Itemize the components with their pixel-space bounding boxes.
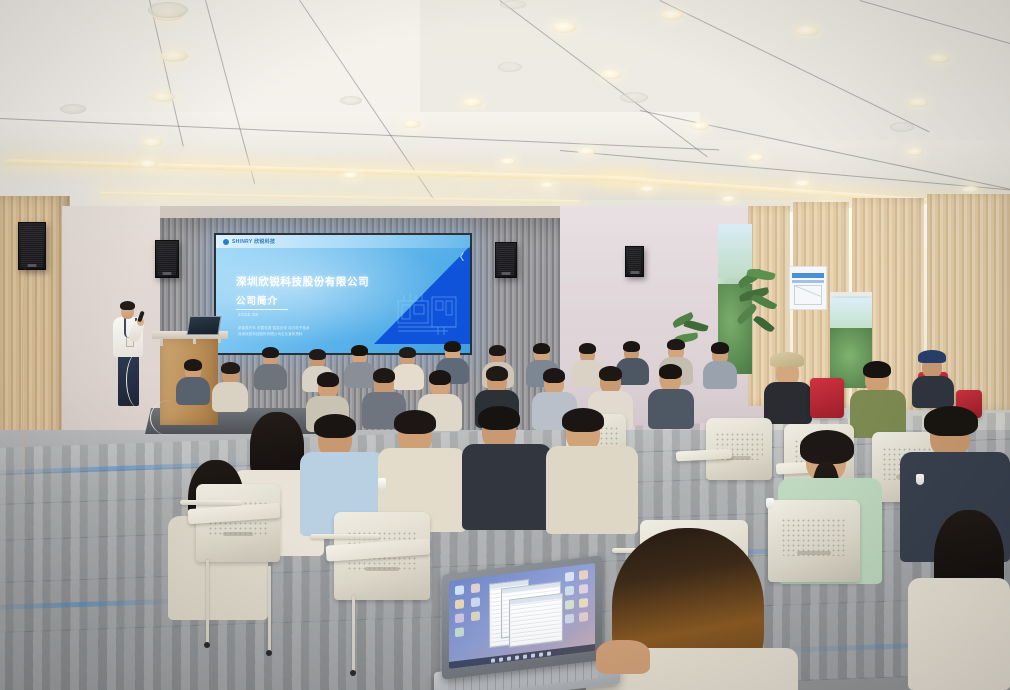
projection-screen: SHINRY 欣锐科技 〈 深圳欣锐科技股份有限公司 公司简介 2024.08 … — [214, 233, 472, 355]
wall-speaker-far-right — [625, 246, 644, 277]
ceiling-downlight — [151, 92, 175, 102]
slide-note-line-1: 新能源汽车 车载电源 智能充电 动力电子技术 — [238, 325, 310, 330]
slide-logo-bar: SHINRY 欣锐科技 — [216, 235, 470, 248]
wall-speaker-right — [495, 242, 517, 278]
paper-cup — [378, 478, 386, 489]
ceiling-downlight — [660, 10, 684, 20]
slide-title: 深圳欣锐科技股份有限公司 — [236, 274, 369, 289]
slide-divider — [236, 309, 288, 310]
ceiling-downlight — [462, 98, 483, 107]
foreground-person-hand — [596, 640, 650, 674]
beige-cap — [770, 352, 804, 367]
ceiling-speaker — [60, 104, 86, 114]
laptop-brand-mark: hp — [519, 663, 526, 670]
indoor-plant — [735, 270, 783, 354]
chair-armrest — [310, 534, 380, 539]
ceiling-downlight — [552, 22, 577, 33]
spreadsheet-window[interactable] — [509, 593, 563, 648]
ceiling-downlight — [795, 26, 819, 36]
ceiling-downlight — [578, 148, 596, 155]
slide-subtitle: 公司简介 — [236, 293, 278, 307]
ceiling-downlight — [500, 158, 516, 165]
ceiling-downlight — [540, 182, 555, 188]
training-chair[interactable] — [768, 500, 860, 582]
ceiling-downlight — [748, 154, 765, 161]
slide-note-line-2: 深圳欣锐科技股份有限公司企业宣传资料 — [238, 331, 303, 336]
ceiling-speaker — [148, 2, 188, 18]
training-chair[interactable] — [196, 484, 280, 562]
ceiling-downlight — [600, 70, 622, 79]
person-hair — [800, 430, 854, 464]
navy-cap — [918, 350, 946, 363]
ceiling-downlight — [142, 138, 163, 147]
slide-logo-text: SHINRY 欣锐科技 — [232, 238, 275, 245]
ceiling-downlight — [690, 122, 709, 130]
ceiling-downlight — [928, 54, 950, 63]
wall-speaker-left — [18, 222, 46, 270]
ceiling-speaker — [500, 0, 526, 9]
slide-corner-mark: 〈 — [455, 250, 464, 263]
conference-room-photo: SHINRY 欣锐科技 〈 深圳欣锐科技股份有限公司 公司简介 2024.08 … — [0, 0, 1010, 690]
ceiling-downlight — [722, 196, 736, 202]
ceiling-speaker — [340, 96, 362, 105]
wall-notice-poster — [789, 266, 827, 310]
ceiling-downlight — [343, 172, 359, 179]
floor-cable — [150, 400, 191, 436]
laptop-screen[interactable] — [449, 563, 595, 669]
red-chair — [810, 378, 844, 418]
paper-cup — [916, 474, 924, 485]
ceiling-speaker — [620, 92, 648, 103]
paper-cup — [766, 498, 774, 509]
presentation-slide: SHINRY 欣锐科技 〈 深圳欣锐科技股份有限公司 公司简介 2024.08 … — [216, 235, 470, 353]
pcb-circuit-illustration — [390, 287, 466, 339]
floor-cable — [126, 352, 151, 408]
slide-date: 2024.08 — [238, 312, 258, 317]
ceiling-downlight — [402, 120, 421, 128]
chair-armrest — [180, 500, 242, 505]
laptop-lid: hp — [442, 555, 602, 680]
ceiling-downlight — [160, 50, 188, 62]
wall-cable — [22, 268, 29, 498]
ceiling-downlight — [795, 180, 811, 187]
ceiling-downlight — [138, 160, 158, 168]
ceiling-downlight — [906, 148, 924, 156]
ceiling-downlight — [640, 186, 655, 192]
ceiling-downlight — [962, 186, 979, 193]
wall-speaker-center — [155, 240, 179, 278]
olive-shirt — [850, 390, 906, 438]
company-logo-icon — [223, 239, 229, 245]
ceiling-speaker — [498, 62, 522, 72]
presenter-hair — [120, 301, 135, 310]
podium-laptop — [186, 316, 221, 335]
ceiling-speaker — [890, 122, 914, 132]
ceiling-downlight — [908, 98, 929, 107]
